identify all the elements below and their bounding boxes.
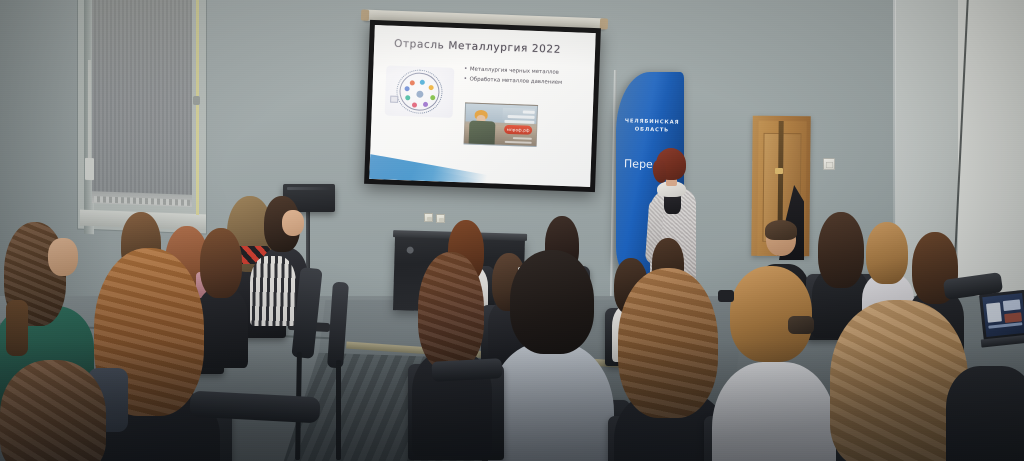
roller-blind[interactable] [92,0,192,201]
promo-button-label: мпроф.рф [504,125,533,135]
worker-promo-photo: мпроф.рф компании! [463,102,537,147]
slide-title: Отрасль Металлургия 2022 [394,38,561,56]
presentation-slide: Отрасль Металлургия 2022 ПРОФЕССИОНАЛИТЕ… [369,25,595,187]
laptop[interactable] [979,290,1024,354]
light-switch[interactable] [823,158,835,170]
blind-chain[interactable] [88,60,91,160]
audience-person [250,204,296,314]
projection-screen: Отрасль Металлургия 2022 ПРОФЕССИОНАЛИТЕ… [364,20,601,192]
window-cord [196,0,199,215]
lecture-room-photo: Отрасль Металлургия 2022 ПРОФЕССИОНАЛИТЕ… [0,0,1024,461]
laptop-screen [982,293,1024,337]
slide-wave-accent [369,139,507,184]
promo-button: мпроф.рф [504,125,533,135]
audience-person [412,252,492,432]
audience-person [486,250,616,461]
audience-person [712,266,838,461]
door-handle-icon[interactable] [775,168,783,174]
slide-bullet: Обработка металлов давлением [463,76,587,89]
window-cord-clip [193,96,200,105]
blind-weight [85,158,94,180]
audience-person [0,360,116,461]
chair-leg [336,360,341,460]
wall-outlet[interactable] [424,213,433,222]
screen-surface: Отрасль Металлургия 2022 ПРОФЕССИОНАЛИТЕ… [369,25,595,187]
audience-person [946,346,1024,461]
professionalitet-logo-icon: ПРОФЕССИОНАЛИТЕТ [385,65,455,117]
glasses-icon [718,290,734,302]
chair-seat [432,358,503,382]
slide-bullet-list: Металлургия черных металлов Обработка ме… [463,65,587,90]
hair-clip [788,316,814,334]
banner-region-text: ЧЕЛЯБИНСКАЯ ОБЛАСТЬ [623,117,681,135]
